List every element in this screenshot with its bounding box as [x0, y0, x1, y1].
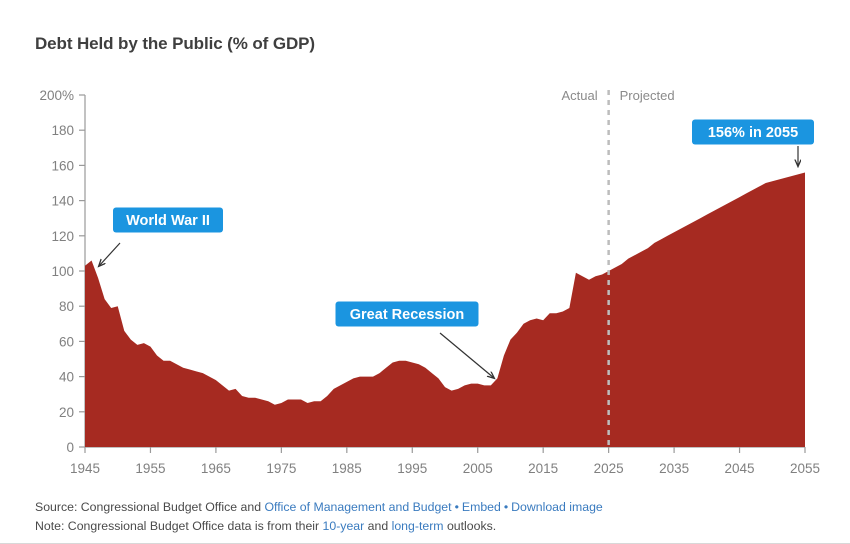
y-tick-label: 20	[59, 405, 74, 420]
x-axis: 1945195519651975198519952005201520252035…	[70, 447, 820, 476]
annotation-badge: 156% in 2055	[692, 120, 814, 167]
y-axis: 020406080100120140160180200%	[39, 88, 85, 455]
omb-link[interactable]: Office of Management and Budget	[264, 500, 451, 514]
annotation-badge: World War II	[99, 208, 223, 267]
chart-figure: Debt Held by the Public (% of GDP) 02040…	[0, 0, 850, 544]
x-tick-label: 1995	[397, 461, 427, 476]
embed-link[interactable]: Embed	[462, 500, 501, 514]
x-tick-label: 1985	[332, 461, 362, 476]
y-tick-label: 100	[51, 264, 74, 279]
y-tick-label: 180	[51, 123, 74, 138]
annotation-label: Great Recession	[350, 307, 464, 323]
x-tick-label: 2035	[659, 461, 689, 476]
annotation-label: 156% in 2055	[708, 125, 798, 141]
y-tick-label: 80	[59, 299, 74, 314]
y-tick-label: 60	[59, 334, 74, 349]
note-middle: and	[364, 519, 391, 533]
y-tick-label: 0	[66, 440, 74, 455]
x-tick-label: 2015	[528, 461, 558, 476]
y-tick-label: 140	[51, 194, 74, 209]
download-image-link[interactable]: Download image	[511, 500, 603, 514]
x-tick-label: 2045	[725, 461, 755, 476]
x-tick-label: 2005	[463, 461, 493, 476]
debt-area-chart: 020406080100120140160180200% 19451955196…	[0, 0, 850, 490]
y-tick-label: 120	[51, 229, 74, 244]
x-tick-label: 1945	[70, 461, 100, 476]
footer: Source: Congressional Budget Office and …	[35, 498, 825, 536]
footer-note-line: Note: Congressional Budget Office data i…	[35, 517, 825, 536]
annotation-label: World War II	[126, 213, 210, 229]
y-tick-label: 200%	[39, 88, 74, 103]
note-prefix: Note: Congressional Budget Office data i…	[35, 519, 323, 533]
actual-label: Actual	[561, 88, 597, 103]
ten-year-link[interactable]: 10-year	[323, 519, 365, 533]
x-tick-label: 2055	[790, 461, 820, 476]
y-tick-label: 40	[59, 370, 74, 385]
x-tick-label: 2025	[594, 461, 624, 476]
y-tick-label: 160	[51, 158, 74, 173]
x-tick-label: 1965	[201, 461, 231, 476]
bullet-2: •	[501, 500, 511, 514]
source-prefix: Source: Congressional Budget Office and	[35, 500, 264, 514]
footer-source-line: Source: Congressional Budget Office and …	[35, 498, 825, 517]
projected-label: Projected	[620, 88, 675, 103]
x-tick-label: 1975	[266, 461, 296, 476]
x-tick-label: 1955	[135, 461, 165, 476]
note-suffix: outlooks.	[444, 519, 497, 533]
bullet-1: •	[452, 500, 462, 514]
long-term-link[interactable]: long-term	[392, 519, 444, 533]
